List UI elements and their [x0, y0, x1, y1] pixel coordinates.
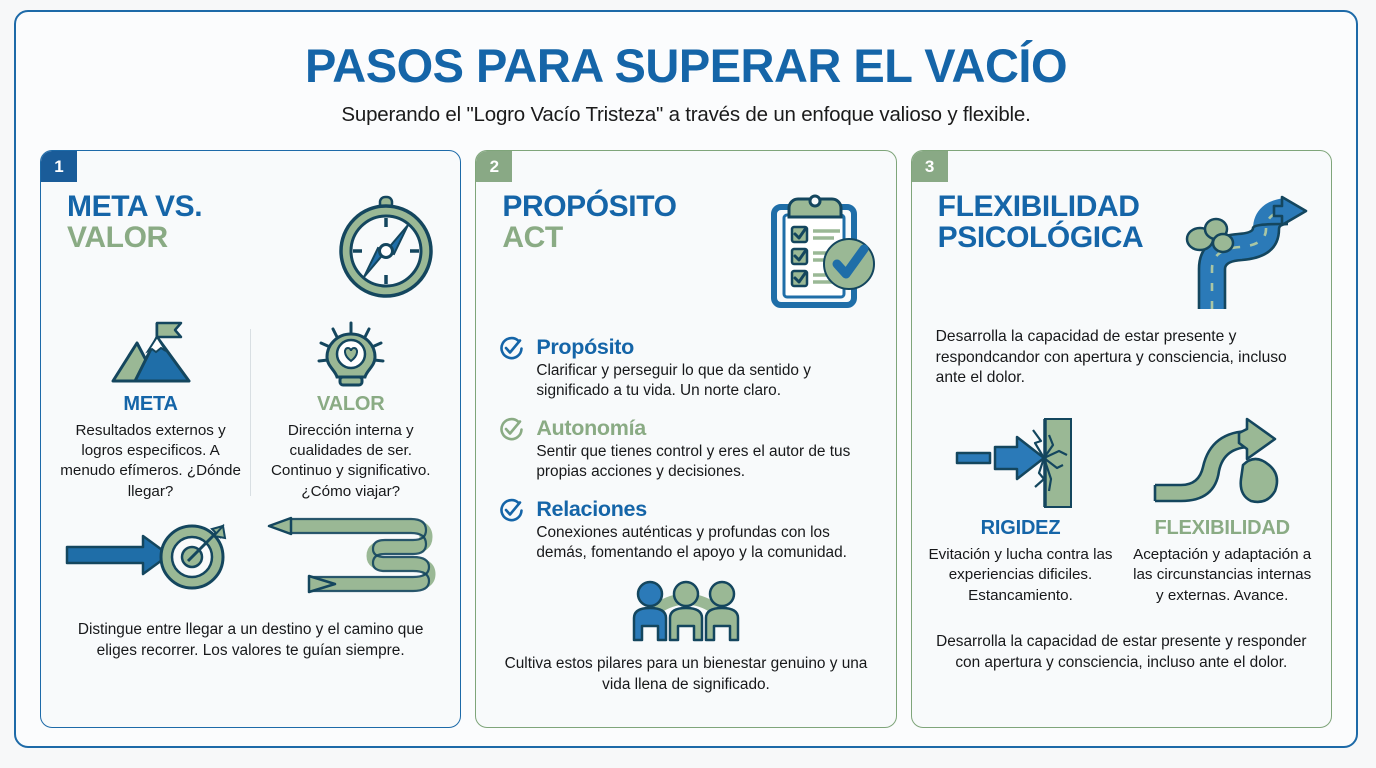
- column-flexibilidad-text: Aceptación y adaptación a las circunstan…: [1129, 545, 1315, 606]
- card-2-head: PROPÓSITO ACT: [476, 151, 895, 317]
- card-1-title: META VS. VALOR: [67, 191, 202, 253]
- column-meta: META Resultados externos y logros especi…: [51, 321, 250, 502]
- cards-container: 1 META VS. VALOR: [16, 127, 1356, 728]
- column-rigidez: RIGIDEZ Evitación y lucha contra las exp…: [922, 413, 1120, 606]
- three-people-icon: [476, 578, 895, 646]
- column-valor: VALOR Dirección interna y cualidades de …: [251, 321, 450, 502]
- card-2-title-line1: PROPÓSITO: [502, 191, 676, 222]
- card-flexibilidad-psicologica: 3 FLEXIBILIDAD PSICOLÓGICA: [911, 150, 1332, 728]
- page-title: PASOS PARA SUPERAR EL VACÍO: [16, 42, 1356, 89]
- bullet-proposito-heading: Propósito: [536, 335, 875, 360]
- card-meta-vs-valor: 1 META VS. VALOR: [40, 150, 461, 728]
- card-1-columns: META Resultados externos y logros especi…: [41, 321, 460, 502]
- card-2-title-line2: ACT: [502, 222, 676, 253]
- column-rigidez-text: Evitación y lucha contra las experiencia…: [928, 545, 1114, 606]
- card-badge-1: 1: [41, 151, 77, 182]
- check-circle-icon: [498, 497, 525, 524]
- winding-road-rocks-icon: [1178, 191, 1313, 313]
- card-3-footnote: Desarrolla la capacidad de estar present…: [912, 632, 1331, 674]
- card-1-bottom-icons: [41, 516, 460, 596]
- bullet-relaciones-heading: Relaciones: [536, 497, 875, 522]
- column-rigidez-label: RIGIDEZ: [928, 517, 1114, 540]
- compass-icon: [330, 191, 442, 303]
- check-circle-icon: [498, 416, 525, 443]
- card-3-lead: Desarrolla la capacidad de estar present…: [912, 319, 1331, 389]
- check-circle-icon: [498, 335, 525, 362]
- card-3-title: FLEXIBILIDAD PSICOLÓGICA: [938, 191, 1144, 253]
- column-meta-text: Resultados externos y logros especificos…: [57, 421, 244, 502]
- bullet-proposito: Propósito Clarificar y perseguir lo que …: [498, 335, 875, 401]
- column-meta-label: META: [57, 393, 244, 416]
- page-subtitle: Superando el "Logro Vacío Tristeza" a tr…: [16, 103, 1356, 127]
- straight-arrow-target-icon: [51, 516, 250, 596]
- card-proposito-act: 2 PROPÓSITO ACT: [475, 150, 896, 728]
- card-2-bullets: Propósito Clarificar y perseguir lo que …: [476, 329, 895, 563]
- bullet-relaciones-text: Conexiones auténticas y profundas con lo…: [536, 523, 875, 563]
- card-3-head: FLEXIBILIDAD PSICOLÓGICA: [912, 151, 1331, 313]
- mountain-flag-icon: [57, 321, 244, 389]
- card-3-columns: RIGIDEZ Evitación y lucha contra las exp…: [912, 413, 1331, 606]
- header: PASOS PARA SUPERAR EL VACÍO Superando el…: [16, 12, 1356, 127]
- bullet-autonomia-text: Sentir que tienes control y eres el auto…: [536, 442, 875, 482]
- clipboard-checklist-icon: [752, 191, 878, 317]
- card-1-title-line2: VALOR: [67, 222, 202, 253]
- arrow-cracked-wall-icon: [928, 413, 1114, 513]
- column-valor-label: VALOR: [257, 393, 444, 416]
- bullet-autonomia: Autonomía Sentir que tienes control y er…: [498, 416, 875, 482]
- card-3-title-line1: FLEXIBILIDAD: [938, 191, 1144, 222]
- card-1-head: META VS. VALOR: [41, 151, 460, 303]
- column-flexibilidad: FLEXIBILIDAD Aceptación y adaptación a l…: [1123, 413, 1321, 606]
- lightbulb-heart-icon: [257, 321, 444, 389]
- bullet-relaciones: Relaciones Conexiones auténticas y profu…: [498, 497, 875, 563]
- card-1-footnote: Distingue entre llegar a un destino y el…: [41, 620, 460, 662]
- infographic-frame: PASOS PARA SUPERAR EL VACÍO Superando el…: [14, 10, 1358, 748]
- winding-path-arrow-icon: [251, 516, 450, 596]
- bullet-autonomia-heading: Autonomía: [536, 416, 875, 441]
- bullet-proposito-text: Clarificar y perseguir lo que da sentido…: [536, 361, 875, 401]
- card-2-footnote: Cultiva estos pilares para un bienestar …: [476, 654, 895, 696]
- card-3-title-line2: PSICOLÓGICA: [938, 222, 1144, 253]
- curved-arrow-rock-icon: [1129, 413, 1315, 513]
- column-flexibilidad-label: FLEXIBILIDAD: [1129, 517, 1315, 540]
- card-badge-3: 3: [912, 151, 948, 182]
- card-2-title: PROPÓSITO ACT: [502, 191, 676, 253]
- card-badge-2: 2: [476, 151, 512, 182]
- card-1-title-line1: META VS.: [67, 191, 202, 222]
- column-valor-text: Dirección interna y cualidades de ser. C…: [257, 421, 444, 502]
